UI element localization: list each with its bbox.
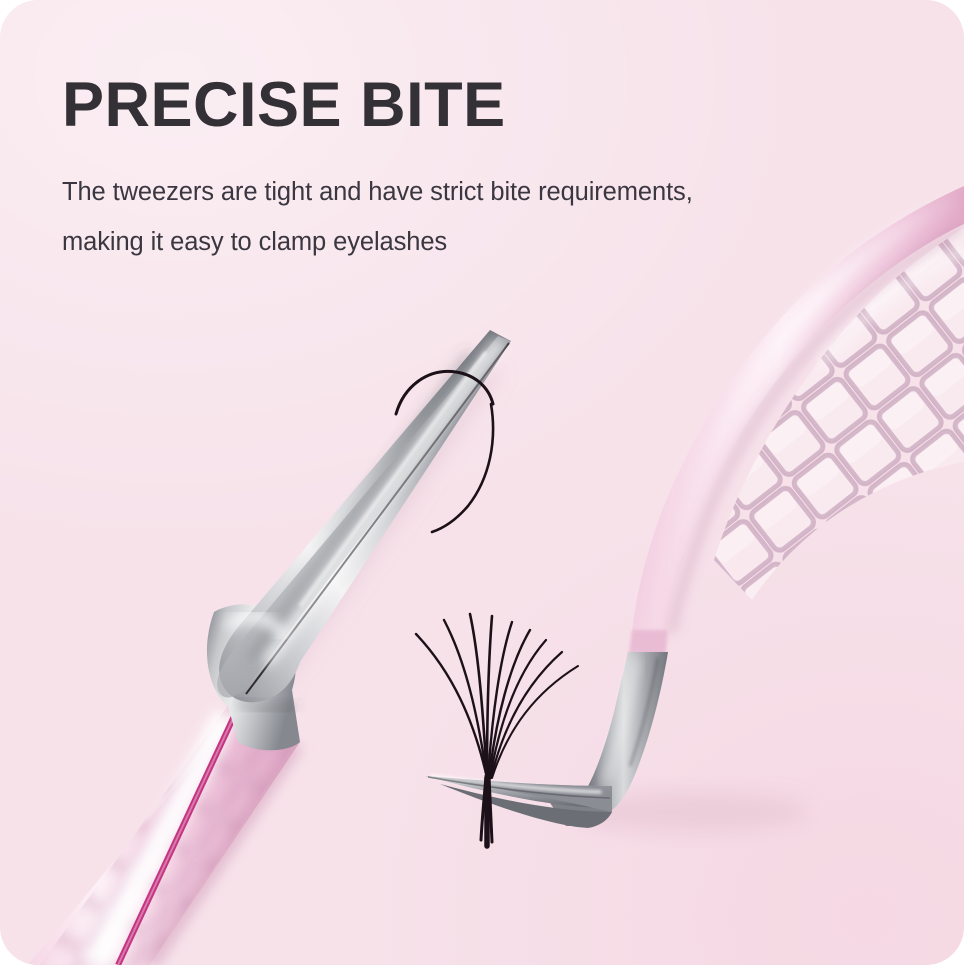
text-block: PRECISE BITE The tweezers are tight and … [62,74,862,267]
description-line-2: making it easy to clamp eyelashes [62,217,862,267]
description-line-1: The tweezers are tight and have strict b… [62,167,862,217]
left-tweezer [20,330,511,965]
left-blade-specular [268,344,498,660]
page-title: PRECISE BITE [62,74,862,137]
pink-card: PRECISE BITE The tweezers are tight and … [0,0,964,965]
product-feature-image: PRECISE BITE The tweezers are tight and … [0,0,964,965]
description: The tweezers are tight and have strict b… [62,137,862,267]
